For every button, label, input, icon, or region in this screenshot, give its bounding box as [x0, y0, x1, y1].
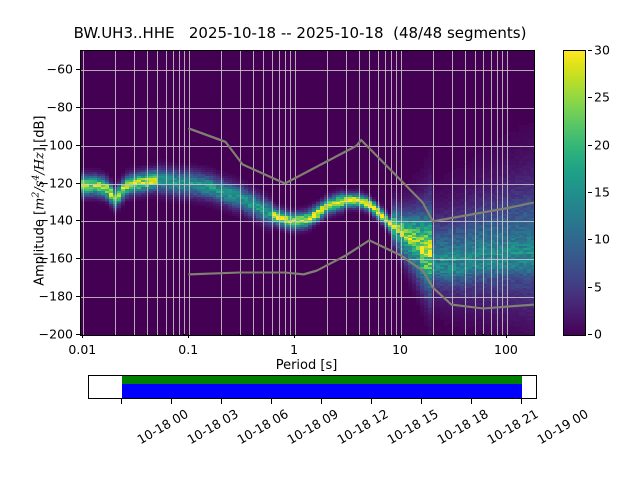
y-axis-label-unit-m: m — [33, 198, 48, 210]
ppsd-density-canvas — [81, 51, 534, 335]
y-tick-mark — [76, 334, 80, 335]
coverage-tick-label: 10-19 00 — [534, 406, 590, 447]
ppsd-figure: BW.UH3..HHE 2025-10-18 -- 2025-10-18 (48… — [0, 0, 640, 480]
x-tick-label: 100 — [494, 342, 518, 357]
y-tick-mark — [76, 183, 80, 184]
x-axis-label: Period [s] — [80, 358, 533, 373]
x-minor-tick-mark — [146, 334, 147, 336]
y-axis-label-unit-hz: /Hz — [33, 152, 48, 175]
x-minor-tick-mark — [395, 334, 396, 336]
x-minor-tick-mark — [133, 334, 134, 336]
colorbar-tick-mark — [588, 287, 592, 288]
x-minor-tick-mark — [284, 334, 285, 336]
x-minor-tick-mark — [165, 334, 166, 336]
coverage-tick-mark — [521, 399, 522, 404]
colorbar-tick-mark — [588, 97, 592, 98]
x-tick-mark — [400, 334, 401, 338]
coverage-tick-label: 10-18 18 — [434, 406, 490, 447]
x-minor-tick-mark — [496, 334, 497, 336]
coverage-tick-mark — [421, 399, 422, 404]
x-minor-tick-mark — [262, 334, 263, 336]
x-tick-label: 10 — [392, 342, 408, 357]
coverage-tick-label: 10-18 03 — [184, 406, 240, 447]
x-minor-tick-mark — [289, 334, 290, 336]
y-axis-label-prefix: Amplitude [ — [33, 210, 48, 286]
colorbar-tick-mark — [588, 239, 592, 240]
data-coverage-bar[interactable] — [88, 375, 537, 399]
colorbar-tick-mark — [588, 334, 592, 335]
y-axis-label-exp2: 2 — [30, 192, 41, 198]
coverage-tick-label: 10-18 21 — [484, 406, 540, 447]
x-minor-tick-mark — [183, 334, 184, 336]
x-minor-tick-mark — [377, 334, 378, 336]
x-minor-tick-mark — [451, 334, 452, 336]
y-axis-label-unit-s: /s — [33, 181, 48, 192]
x-minor-tick-mark — [114, 334, 115, 336]
coverage-tick-mark — [321, 399, 322, 404]
x-minor-tick-mark — [278, 334, 279, 336]
y-tick-mark — [76, 69, 80, 70]
x-minor-tick-mark — [490, 334, 491, 336]
x-minor-tick-mark — [368, 334, 369, 336]
x-minor-tick-mark — [482, 334, 483, 336]
x-tick-label: 0.01 — [68, 342, 96, 357]
coverage-tick-mark — [171, 399, 172, 404]
coverage-tick-mark — [271, 399, 272, 404]
coverage-band-blue — [122, 384, 522, 398]
x-axis-ticks: 0.010.1110100 — [80, 334, 533, 358]
page-title: BW.UH3..HHE 2025-10-18 -- 2025-10-18 (48… — [0, 24, 600, 42]
colorbar-tick-mark — [588, 145, 592, 146]
y-axis-label-suffix: ] [dB] — [33, 116, 48, 153]
colorbar-gradient — [564, 51, 585, 335]
coverage-tick-label: 10-18 00 — [134, 406, 190, 447]
coverage-tick-label: 10-18 06 — [234, 406, 290, 447]
colorbar-tick-label: 20 — [594, 137, 610, 152]
coverage-tick-mark — [371, 399, 372, 404]
x-minor-tick-mark — [384, 334, 385, 336]
x-minor-tick-mark — [501, 334, 502, 336]
x-minor-tick-mark — [239, 334, 240, 336]
x-minor-tick-mark — [178, 334, 179, 336]
x-minor-tick-mark — [172, 334, 173, 336]
y-tick-label: −60 — [47, 61, 73, 76]
x-minor-tick-mark — [474, 334, 475, 336]
colorbar-tick-label: 25 — [594, 90, 610, 105]
y-tick-mark — [76, 296, 80, 297]
x-minor-tick-mark — [464, 334, 465, 336]
x-minor-tick-mark — [345, 334, 346, 336]
y-tick-label: −80 — [47, 99, 73, 114]
coverage-band-green — [122, 376, 522, 384]
coverage-tick-mark — [121, 399, 122, 404]
y-tick-mark — [76, 145, 80, 146]
colorbar-tick-label: 0 — [594, 327, 602, 342]
colorbar-tick-label: 5 — [594, 279, 602, 294]
x-minor-tick-mark — [271, 334, 272, 336]
x-tick-label: 0.1 — [178, 342, 198, 357]
x-minor-tick-mark — [252, 334, 253, 336]
y-tick-mark — [76, 220, 80, 221]
colorbar-tick-mark — [588, 192, 592, 193]
x-minor-tick-mark — [220, 334, 221, 336]
x-minor-tick-mark — [390, 334, 391, 336]
colorbar-ticks: 051015202530 — [588, 50, 628, 334]
coverage-tick-mark — [221, 399, 222, 404]
coverage-tick-mark — [471, 399, 472, 404]
coverage-axis-labels: 10-18 0010-18 0310-18 0610-18 0910-18 12… — [0, 404, 640, 480]
x-tick-mark — [506, 334, 507, 338]
colorbar-tick-label: 30 — [594, 43, 610, 58]
y-axis-label: Amplitude [m2/s4/Hz] [dB] — [30, 56, 47, 346]
x-tick-mark — [294, 334, 295, 338]
coverage-tick-label: 10-18 12 — [334, 406, 390, 447]
x-minor-tick-mark — [358, 334, 359, 336]
y-axis-label-exp4: 4 — [30, 175, 41, 181]
ppsd-histogram-axes[interactable] — [80, 50, 535, 336]
x-tick-mark — [188, 334, 189, 338]
y-tick-mark — [76, 107, 80, 108]
y-tick-mark — [76, 258, 80, 259]
coverage-tick-label: 10-18 15 — [384, 406, 440, 447]
x-tick-mark — [82, 334, 83, 338]
x-minor-tick-mark — [156, 334, 157, 336]
colorbar-tick-mark — [588, 50, 592, 51]
x-minor-tick-mark — [432, 334, 433, 336]
colorbar — [563, 50, 586, 336]
colorbar-tick-label: 10 — [594, 232, 610, 247]
coverage-bands — [89, 376, 536, 398]
coverage-tick-label: 10-18 09 — [284, 406, 340, 447]
x-minor-tick-mark — [326, 334, 327, 336]
colorbar-tick-label: 15 — [594, 185, 610, 200]
x-tick-label: 1 — [290, 342, 298, 357]
